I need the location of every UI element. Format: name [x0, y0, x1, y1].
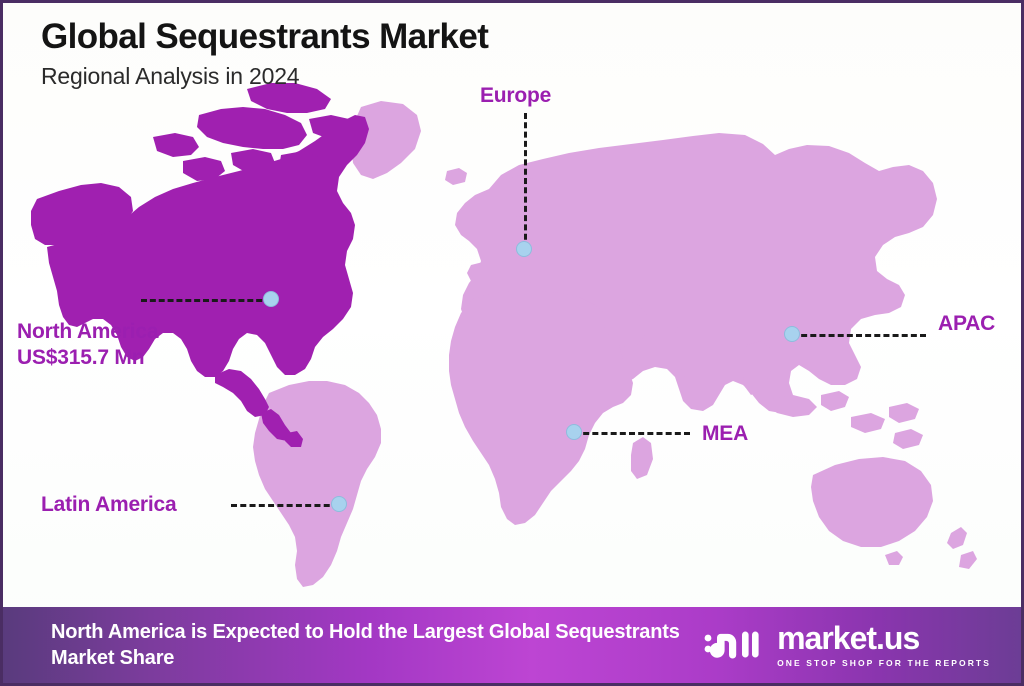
marker-europe[interactable]	[516, 241, 532, 257]
label-north-america-value: US$315.7 Mn	[17, 345, 158, 371]
label-latin-america-name: Latin America	[41, 493, 177, 516]
connector-latin-america	[231, 504, 339, 507]
infographic-card: Global Sequestrants Market Regional Anal…	[0, 0, 1024, 686]
label-latin-america: Latin America	[41, 492, 177, 518]
header: Global Sequestrants Market Regional Anal…	[41, 19, 488, 90]
map-region-base	[253, 101, 977, 587]
logo-glyph-icon	[703, 624, 767, 666]
label-apac: APAC	[938, 311, 995, 337]
label-north-america: North America US$315.7 Mn	[17, 319, 158, 372]
connector-apac	[792, 334, 926, 337]
marker-mea[interactable]	[566, 424, 582, 440]
connector-europe	[524, 113, 527, 249]
label-apac-name: APAC	[938, 312, 995, 335]
market-us-logo[interactable]: market.us ONE STOP SHOP FOR THE REPORTS	[703, 622, 1003, 668]
label-north-america-name: North America	[17, 320, 158, 343]
marker-latin-america[interactable]	[331, 496, 347, 512]
page-subtitle: Regional Analysis in 2024	[41, 63, 488, 90]
logo-wordmark: market.us	[777, 622, 991, 654]
marker-apac[interactable]	[784, 326, 800, 342]
logo-tagline: ONE STOP SHOP FOR THE REPORTS	[777, 658, 991, 668]
footer-caption: North America is Expected to Hold the La…	[51, 619, 703, 672]
connector-mea	[574, 432, 690, 435]
label-mea-name: MEA	[702, 422, 748, 445]
marker-north-america[interactable]	[263, 291, 279, 307]
connector-north-america	[141, 299, 271, 302]
label-europe-name: Europe	[480, 84, 551, 107]
logo-text-block: market.us ONE STOP SHOP FOR THE REPORTS	[777, 622, 991, 668]
label-europe: Europe	[480, 83, 551, 109]
footer-banner: North America is Expected to Hold the La…	[3, 607, 1021, 683]
label-mea: MEA	[702, 421, 748, 447]
page-title: Global Sequestrants Market	[41, 19, 488, 56]
